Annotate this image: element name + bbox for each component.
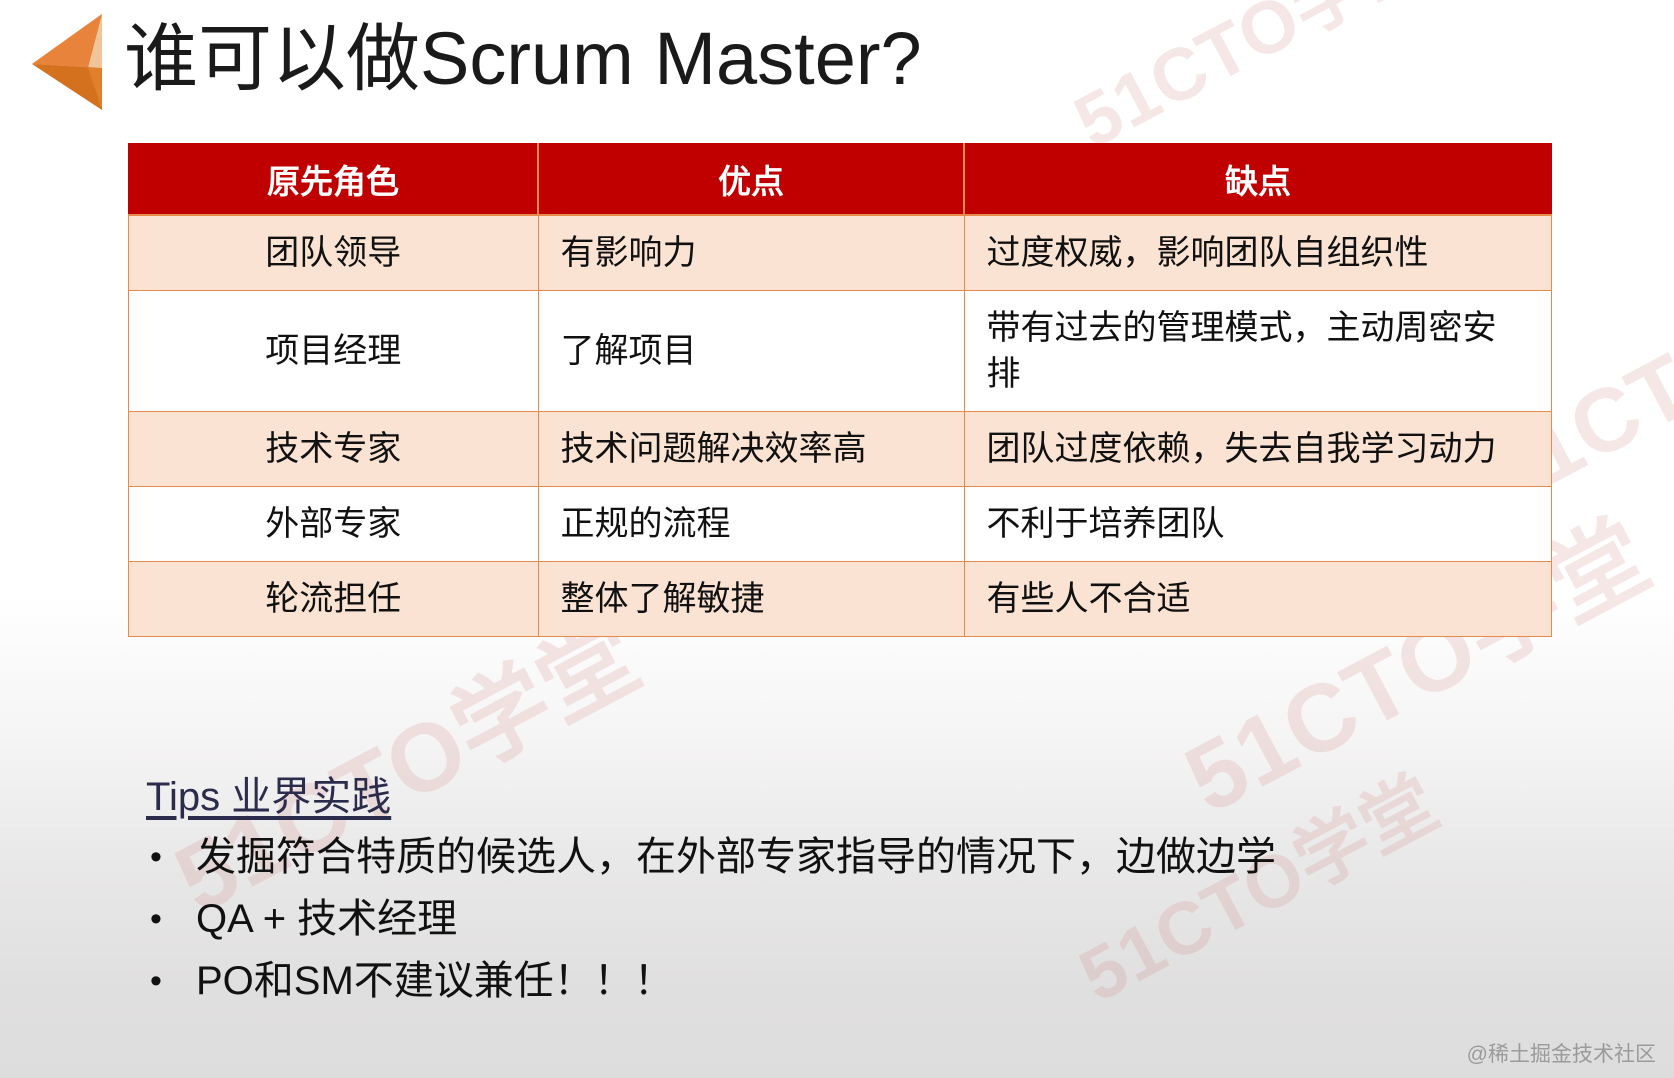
table-body: 团队领导 有影响力 过度权威，影响团队自组织性 项目经理 了解项目 <box>129 215 1552 637</box>
tips-list: 发掘符合特质的候选人，在外部专家指导的情况下，边做边学 QA + 技术经理 PO… <box>142 826 1592 1012</box>
slide-canvas: 51CTO学堂 51CTO学堂 51CTO学堂 51CTO学堂 51CTO学堂 … <box>0 0 1674 1078</box>
table-row: 外部专家 正规的流程 不利于培养团队 <box>129 487 1552 562</box>
column-header-cons: 缺点 <box>964 144 1552 216</box>
cell-role: 轮流担任 <box>129 562 539 637</box>
column-header-pros: 优点 <box>538 144 964 216</box>
triangle-left-icon <box>14 8 110 116</box>
table-row: 项目经理 了解项目 带有过去的管理模式，主动周密安排 <box>129 291 1552 412</box>
credit-watermark: @稀土掘金技术社区 <box>1467 1038 1656 1068</box>
list-item: QA + 技术经理 <box>142 888 1592 950</box>
comparison-table: 原先角色 优点 缺点 团队领导 有影响力 过度权威，影响团队自组织性 <box>128 143 1552 637</box>
column-header-role: 原先角色 <box>129 144 539 216</box>
comparison-table-wrapper: 原先角色 优点 缺点 团队领导 有影响力 过度权威，影响团队自组织性 <box>128 143 1546 637</box>
cell-role: 外部专家 <box>129 487 539 562</box>
cell-pro: 有影响力 <box>538 215 964 291</box>
table-header-row: 原先角色 优点 缺点 <box>129 144 1552 216</box>
table-row: 技术专家 技术问题解决效率高 团队过度依赖，失去自我学习动力 <box>129 412 1552 487</box>
list-item: 发掘符合特质的候选人，在外部专家指导的情况下，边做边学 <box>142 826 1592 888</box>
cell-pro: 技术问题解决效率高 <box>538 412 964 487</box>
list-item: PO和SM不建议兼任！！！ <box>142 950 1592 1012</box>
tips-heading: Tips 业界实践 <box>146 772 391 822</box>
cell-con: 团队过度依赖，失去自我学习动力 <box>964 412 1552 487</box>
cell-role: 团队领导 <box>129 215 539 291</box>
cell-con: 不利于培养团队 <box>964 487 1552 562</box>
cell-role: 技术专家 <box>129 412 539 487</box>
table-row: 轮流担任 整体了解敏捷 有些人不合适 <box>129 562 1552 637</box>
cell-role: 项目经理 <box>129 291 539 412</box>
cell-con: 过度权威，影响团队自组织性 <box>964 215 1552 291</box>
title-row: 谁可以做Scrum Master? <box>0 0 1674 125</box>
table-head: 原先角色 优点 缺点 <box>129 144 1552 216</box>
page-title: 谁可以做Scrum Master? <box>124 6 922 112</box>
table-row: 团队领导 有影响力 过度权威，影响团队自组织性 <box>129 215 1552 291</box>
cell-pro: 正规的流程 <box>538 487 964 562</box>
cell-con: 带有过去的管理模式，主动周密安排 <box>964 291 1552 412</box>
cell-con: 有些人不合适 <box>964 562 1552 637</box>
cell-pro: 了解项目 <box>538 291 964 412</box>
cell-pro: 整体了解敏捷 <box>538 562 964 637</box>
